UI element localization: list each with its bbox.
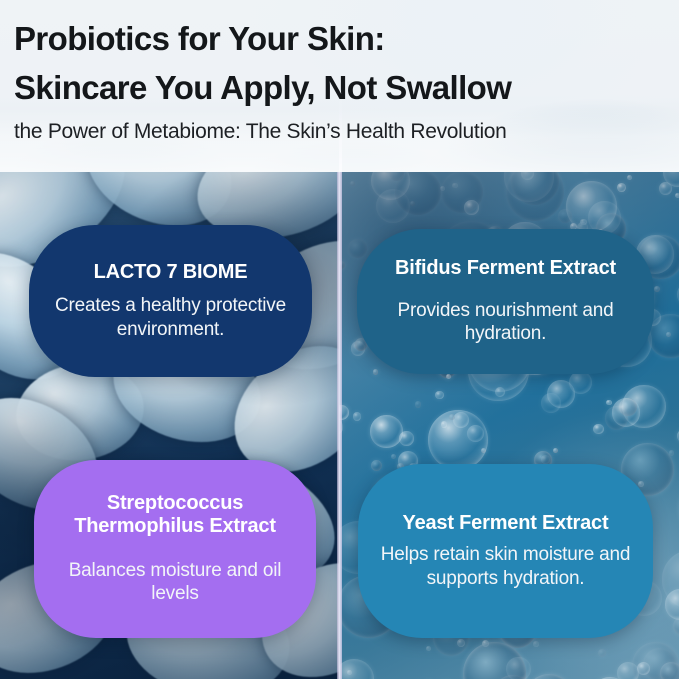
card-lacto-7-biome: LACTO 7 BIOME Creates a healthy protecti… <box>29 225 312 377</box>
page-title-line-1: Probiotics for Your Skin: <box>14 22 665 55</box>
ingredient-cards-grid: LACTO 7 BIOME Creates a healthy protecti… <box>0 168 679 679</box>
card-title: Bifidus Ferment Extract <box>395 257 616 280</box>
card-bifidus-ferment-extract: Bifidus Ferment Extract Provides nourish… <box>357 229 654 374</box>
header-band: Probiotics for Your Skin: Skincare You A… <box>0 0 679 172</box>
card-title: Streptococcus Thermophilus Extract <box>50 492 300 538</box>
card-title: LACTO 7 BIOME <box>94 261 248 284</box>
card-streptococcus-thermophilus-extract: Streptococcus Thermophilus Extract Balan… <box>34 460 316 638</box>
card-description: Balances moisture and oil levels <box>50 559 300 606</box>
card-description: Provides nourishment and hydration. <box>373 299 638 346</box>
card-yeast-ferment-extract: Yeast Ferment Extract Helps retain skin … <box>358 464 653 638</box>
card-description: Helps retain skin moisture and supports … <box>374 543 637 590</box>
header-text-block: Probiotics for Your Skin: Skincare You A… <box>0 0 679 172</box>
page-subtitle: the Power of Metabiome: The Skin’s Healt… <box>14 121 665 143</box>
card-title: Yeast Ferment Extract <box>403 512 609 535</box>
probiotics-skincare-infographic: Probiotics for Your Skin: Skincare You A… <box>0 0 679 679</box>
page-title-line-2: Skincare You Apply, Not Swallow <box>14 71 665 104</box>
card-description: Creates a healthy protective environment… <box>45 294 296 341</box>
